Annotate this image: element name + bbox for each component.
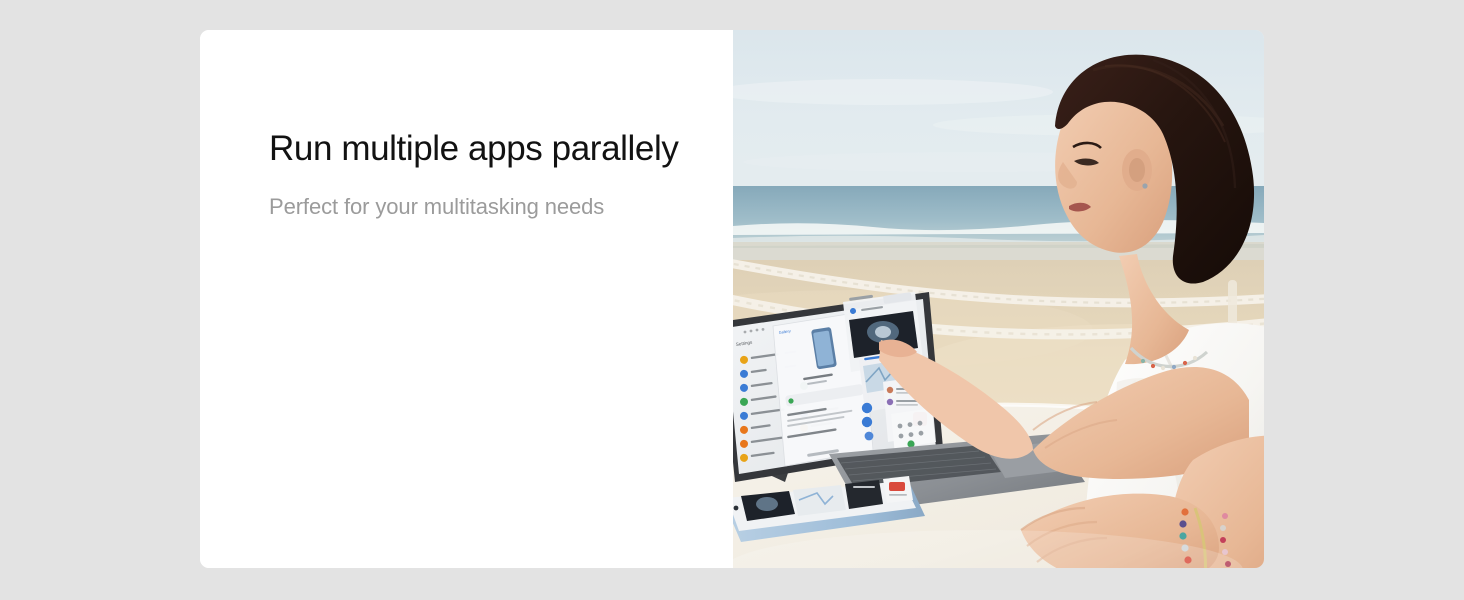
copy-panel: Run multiple apps parallely Perfect for … — [200, 30, 733, 568]
promo-card: Run multiple apps parallely Perfect for … — [200, 30, 1264, 568]
earring — [1142, 183, 1147, 188]
beach-scene-illustration: Settings — [733, 30, 1264, 568]
page-subtitle: Perfect for your multitasking needs — [269, 194, 604, 220]
page-title: Run multiple apps parallely — [269, 129, 678, 169]
hero-photo: Settings — [733, 30, 1264, 568]
page-root: Run multiple apps parallely Perfect for … — [0, 0, 1464, 600]
